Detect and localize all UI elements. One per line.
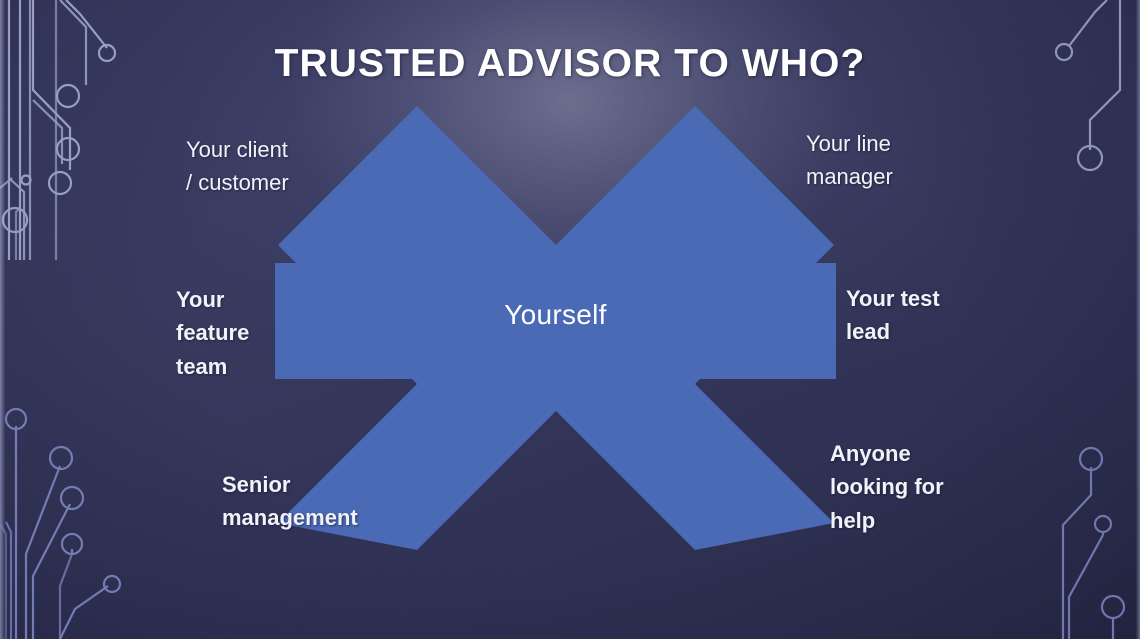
label-line: help: [830, 504, 1040, 537]
label-your-feature-team: Your feature team: [176, 283, 356, 383]
label-line: feature: [176, 316, 356, 349]
label-your-client-customer: Your client / customer: [186, 133, 386, 200]
label-line: lead: [846, 315, 1046, 348]
label-your-test-lead: Your test lead: [846, 282, 1046, 349]
label-line: management: [222, 501, 452, 534]
page-title: TRUSTED ADVISOR TO WHO?: [0, 42, 1140, 86]
label-line: Anyone: [830, 437, 1040, 470]
label-line: looking for: [830, 470, 1040, 503]
slide-canvas: TRUSTED ADVISOR TO WHO? Yourself Your cl…: [0, 0, 1140, 639]
label-anyone-looking-for-help: Anyone looking for help: [830, 437, 1040, 537]
label-your-line-manager: Your line manager: [806, 127, 1006, 194]
center-node-label: Yourself: [275, 299, 836, 331]
label-line: team: [176, 350, 356, 383]
label-line: Your: [176, 283, 356, 316]
label-line: / customer: [186, 166, 386, 199]
label-line: Your line: [806, 127, 1006, 160]
label-line: Your test: [846, 282, 1046, 315]
label-line: Your client: [186, 133, 386, 166]
label-line: Senior: [222, 468, 452, 501]
label-senior-management: Senior management: [222, 468, 452, 535]
label-line: manager: [806, 160, 1006, 193]
